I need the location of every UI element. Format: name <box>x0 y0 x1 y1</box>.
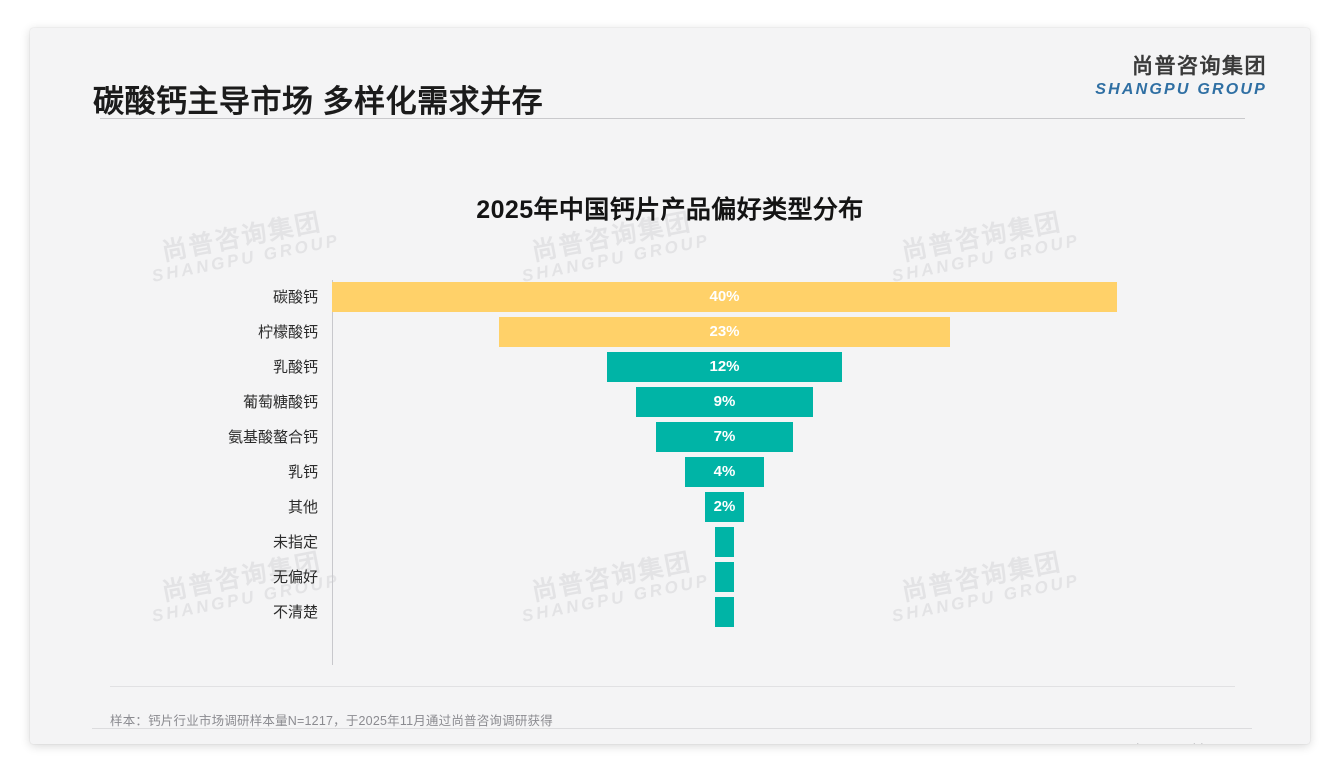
note-divider <box>110 686 1235 687</box>
category-label: 未指定 <box>100 525 318 560</box>
bar-value-label: 7% <box>656 422 793 452</box>
footer-website: www.shangpu-china.com <box>1097 741 1248 744</box>
header-divider <box>100 118 1245 119</box>
bar-value-label: 40% <box>332 282 1117 312</box>
source-note: 样本：钙片行业市场调研样本量N=1217，于2025年11月通过尚普咨询调研获得 <box>110 710 553 729</box>
chart-row: 乳钙4% <box>100 455 1245 490</box>
chart-row: 无偏好 <box>100 560 1245 595</box>
category-label: 氨基酸螯合钙 <box>100 420 318 455</box>
page-title: 碳酸钙主导市场 多样化需求并存 <box>93 76 543 121</box>
bar-value-label: 2% <box>705 492 744 522</box>
category-label: 乳钙 <box>100 455 318 490</box>
chart-title: 2025年中国钙片产品偏好类型分布 <box>30 190 1310 226</box>
chart-row: 氨基酸螯合钙7% <box>100 420 1245 455</box>
bar-value-label: 4% <box>685 457 764 487</box>
chart-row: 柠檬酸钙23% <box>100 315 1245 350</box>
funnel-bar[interactable] <box>715 562 735 592</box>
category-label: 葡萄糖酸钙 <box>100 385 318 420</box>
category-label: 不清楚 <box>100 595 318 630</box>
category-label: 无偏好 <box>100 560 318 595</box>
category-label: 其他 <box>100 490 318 525</box>
category-label: 柠檬酸钙 <box>100 315 318 350</box>
chart-row: 碳酸钙40% <box>100 280 1245 315</box>
bar-value-label: 9% <box>636 387 813 417</box>
bar-value-label: 12% <box>607 352 843 382</box>
brand-logo: 尚普咨询集团 SHANGPU GROUP <box>1095 56 1267 98</box>
footer-divider <box>92 728 1252 729</box>
footer-copyright: ©2026.1 SHANGPU GROUP <box>92 741 269 744</box>
category-label: 碳酸钙 <box>100 280 318 315</box>
slide-canvas: 尚普咨询集团 SHANGPU GROUP 尚普咨询集团 SHANGPU GROU… <box>30 28 1310 744</box>
funnel-bar[interactable] <box>715 597 735 627</box>
chart-row: 乳酸钙12% <box>100 350 1245 385</box>
funnel-bar[interactable] <box>715 527 735 557</box>
chart-row: 不清楚 <box>100 595 1245 630</box>
chart-row: 未指定 <box>100 525 1245 560</box>
bar-value-label: 23% <box>499 317 950 347</box>
funnel-chart: 碳酸钙40%柠檬酸钙23%乳酸钙12%葡萄糖酸钙9%氨基酸螯合钙7%乳钙4%其他… <box>100 260 1245 675</box>
category-label: 乳酸钙 <box>100 350 318 385</box>
brand-name-en: SHANGPU GROUP <box>1095 82 1267 98</box>
brand-name-cn: 尚普咨询集团 <box>1095 56 1267 77</box>
slide-header: 碳酸钙主导市场 多样化需求并存 尚普咨询集团 SHANGPU GROUP <box>30 28 1310 124</box>
chart-row: 其他2% <box>100 490 1245 525</box>
chart-row: 葡萄糖酸钙9% <box>100 385 1245 420</box>
